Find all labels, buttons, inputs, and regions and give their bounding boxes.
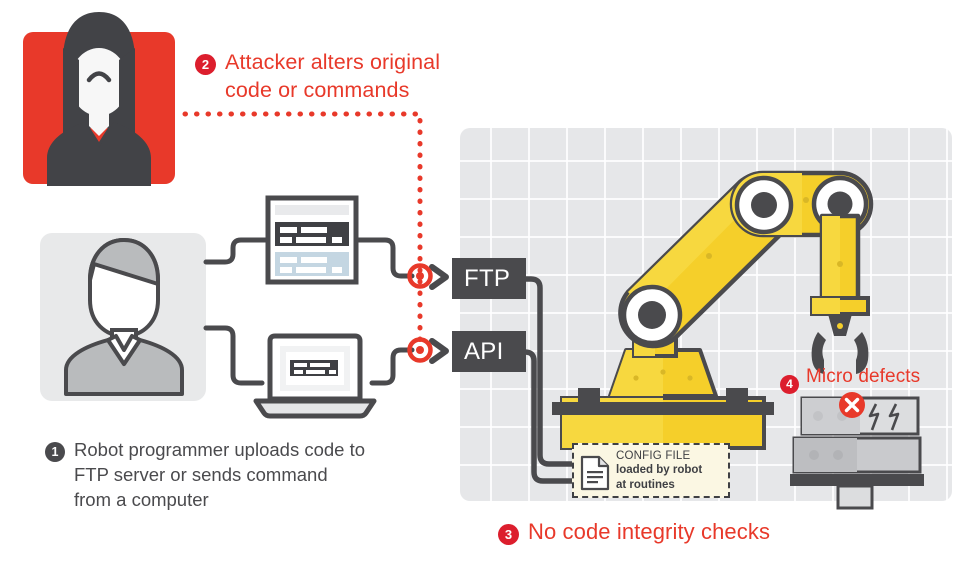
- step-4-badge: 4: [780, 375, 799, 394]
- step-1-line-3: from a computer: [74, 489, 209, 510]
- config-file-text: CONFIG FILE loaded by robot at routines: [616, 449, 702, 493]
- config-file-heading: CONFIG FILE: [616, 449, 702, 464]
- step-1-line-2: FTP server or sends command: [74, 464, 328, 485]
- step-1-label: 1Robot programmer uploads code toFTP ser…: [45, 437, 425, 512]
- step-3-badge: 3: [498, 524, 519, 545]
- infographic-canvas: 2Attacker alters originalcode or command…: [0, 0, 978, 581]
- step-1-line-1: Robot programmer uploads code to: [74, 439, 365, 460]
- gripper-claw-icon: [812, 314, 869, 374]
- red-x-error-icon: [838, 391, 866, 419]
- config-file-line-3: at routines: [616, 478, 702, 493]
- step-4-line-1: Micro defects: [806, 367, 920, 386]
- step-3-label: 3No code integrity checks: [498, 518, 828, 546]
- document-icon: [580, 455, 610, 491]
- step-3-line-1: No code integrity checks: [528, 518, 770, 546]
- config-file-line-2: loaded by robot: [616, 463, 702, 478]
- step-1-badge: 1: [45, 442, 65, 462]
